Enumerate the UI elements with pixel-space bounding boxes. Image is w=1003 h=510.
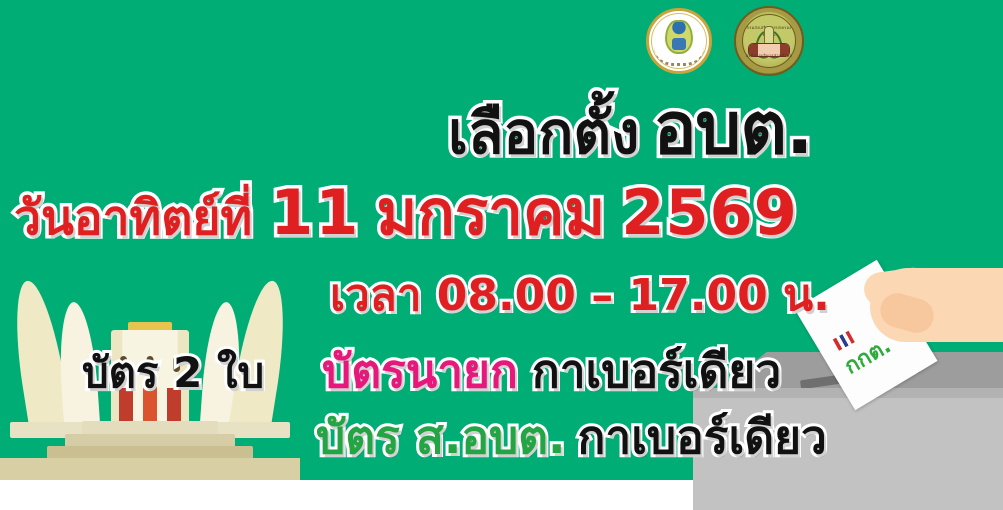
election-time: เวลา 08.00 – 17.00 น. (330, 274, 830, 318)
headline-main: อบต. (653, 86, 812, 170)
ballot-instruction-mayor: บัตรนายกกาเบอร์เดียว (322, 348, 781, 394)
date-day-label: วันอาทิตย์ที่ (14, 190, 252, 246)
ballot-instruction-council: บัตร ส.อบต.กาเบอร์เดียว (316, 414, 827, 460)
page-title: เลือกตั้งอบต. (448, 92, 812, 164)
election-date: วันอาทิตย์ที่11มกราคม2569 (14, 182, 798, 244)
emblem-caption-bottom: องค์การบริหารส่วนตำบล (743, 52, 795, 59)
headline-prefix: เลือกตั้ง (448, 99, 639, 167)
local-administration-emblem: กรมส่งเสริมการปกครองท้องถิ่น องค์การบริห… (734, 6, 804, 76)
ballot-instruction-council-text: กาเบอร์เดียว (578, 410, 827, 464)
ballot-type-council: บัตร ส.อบต. (316, 410, 566, 464)
election-poster: กรมส่งเสริมการปกครองท้องถิ่น องค์การบริห… (0, 0, 1003, 510)
emblem-inner-disc: กรมส่งเสริมการปกครองท้องถิ่น องค์การบริห… (742, 14, 796, 68)
monument-step-1 (82, 421, 218, 434)
ballot-count-label: บัตร 2 ใบ (82, 352, 264, 394)
date-day-number: 11 (270, 176, 360, 249)
date-year: 2569 (621, 176, 798, 249)
monument-plinth (0, 458, 300, 480)
ballot-instruction-mayor-text: กาเบอร์เดียว (532, 344, 781, 398)
ballot-type-mayor: บัตรนายก (322, 344, 518, 398)
election-commission-thailand-emblem (646, 8, 712, 74)
date-month: มกราคม (376, 176, 605, 249)
hand-casting-vote (860, 252, 1003, 362)
hand-wrist (970, 274, 1003, 342)
